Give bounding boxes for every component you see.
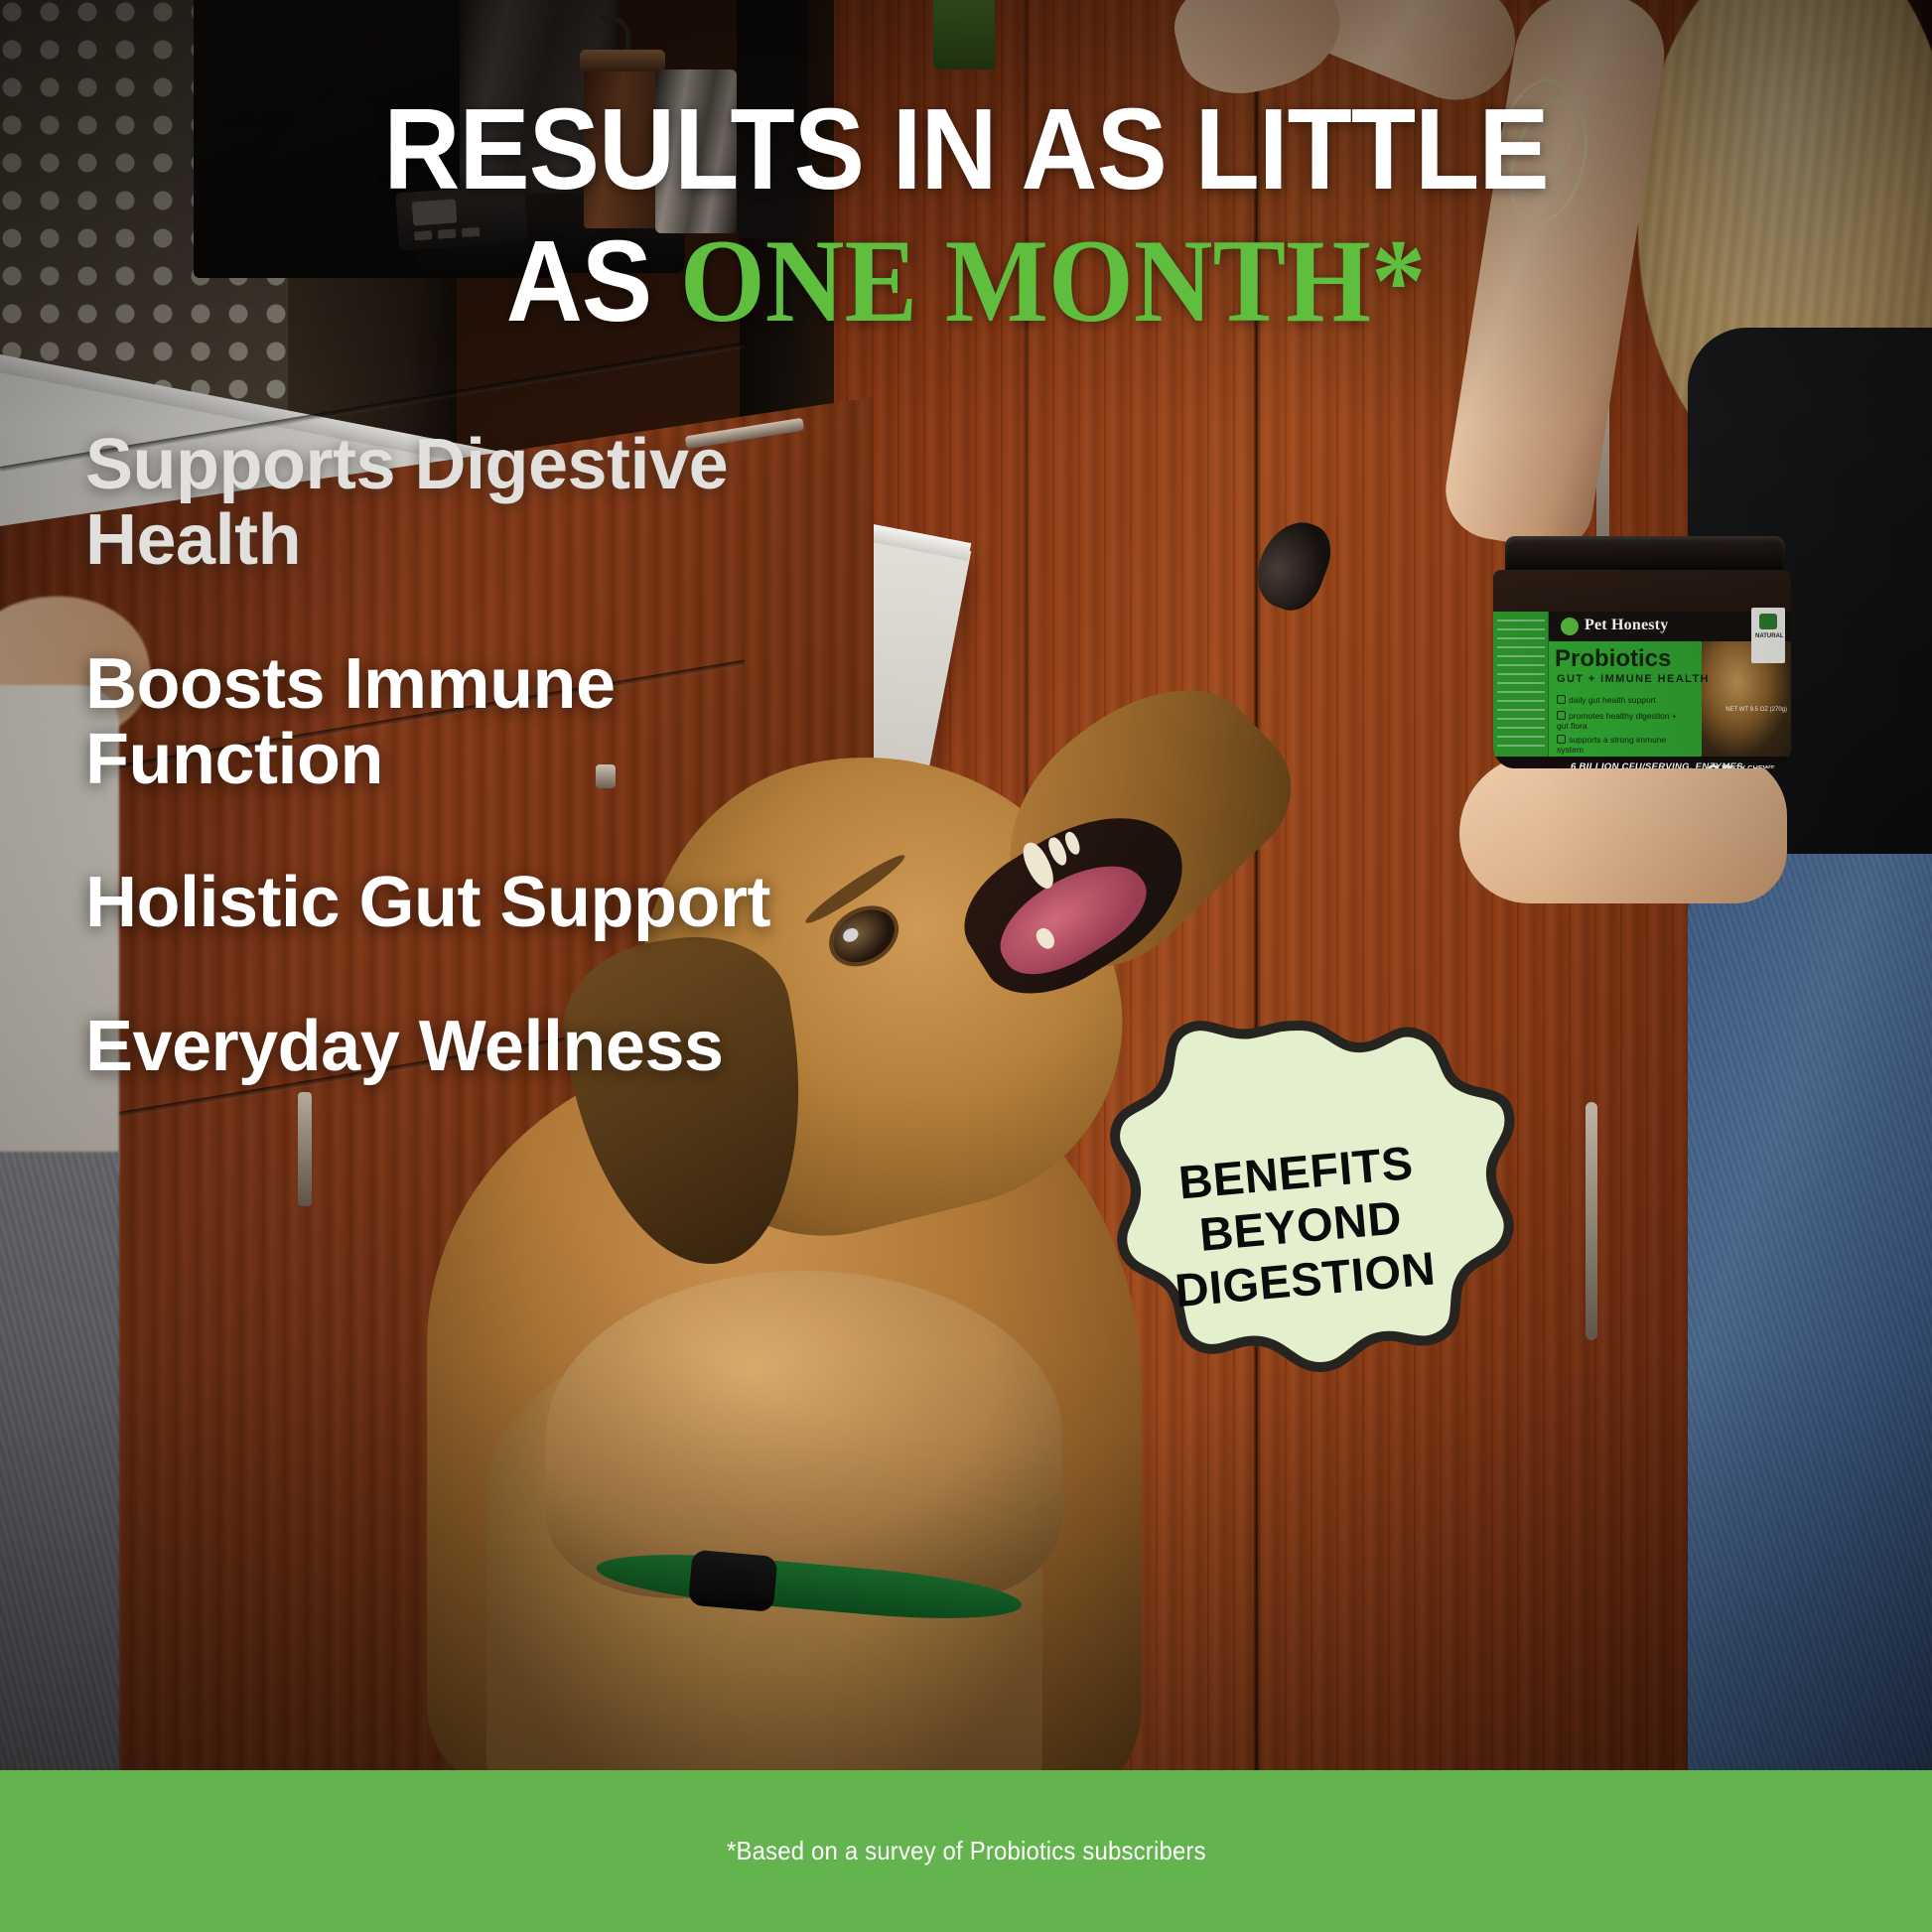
- seal-label: NATURAL: [1755, 633, 1784, 639]
- jar-body: Pet Honesty Probiotics GUT + IMMUNE HEAL…: [1493, 570, 1791, 768]
- net-weight-text: NET WT 9.5 OZ (270g): [1725, 707, 1787, 715]
- coffee-maker-display: [412, 199, 458, 225]
- coffee-maker-button: [438, 228, 457, 238]
- brand-name: Pet Honesty: [1585, 617, 1668, 634]
- product-bullet: daily gut health support: [1557, 695, 1656, 706]
- label-claim-bar: 6 BILLION CFU/SERVING, ENZYMES, PREBIOTI…: [1493, 757, 1791, 768]
- knife-block: [737, 0, 808, 238]
- product-bullet-text: daily gut health support: [1569, 695, 1656, 705]
- product-bullet-text: promotes healthy digestion + gut flora: [1557, 711, 1677, 731]
- canister-lid: [580, 50, 665, 71]
- cabinet-seam: [1253, 0, 1260, 1777]
- background-person-pants: [0, 1152, 119, 1777]
- seal-leaf-icon: [1759, 614, 1777, 629]
- pet-honesty-logo-icon: [1561, 618, 1579, 635]
- label-ingredient-lines: [1497, 620, 1545, 749]
- product-bullet: promotes healthy digestion + gut flora: [1557, 711, 1688, 732]
- check-icon: [1557, 735, 1566, 744]
- woman-hand-holding-jar: [1459, 755, 1787, 903]
- ad-creative-canvas: Pet Honesty Probiotics GUT + IMMUNE HEAL…: [0, 0, 1932, 1932]
- coffee-maker-control-panel: [395, 185, 528, 251]
- benefits-beyond-digestion-badge: BENEFITS BEYOND DIGESTION: [1082, 1018, 1519, 1435]
- benefit-list: Supports Digestive Health Boosts Immune …: [85, 427, 840, 1152]
- product-name: Probiotics: [1555, 645, 1671, 673]
- benefit-item-everyday-wellness: Everyday Wellness: [85, 1009, 840, 1084]
- product-count-unit: TASTY CHEWS: [1722, 764, 1775, 768]
- badge-text-block: BENEFITS BEYOND DIGESTION: [1065, 1000, 1537, 1453]
- coffee-maker-button: [414, 230, 433, 240]
- product-subtitle: GUT + IMMUNE HEALTH: [1557, 673, 1710, 685]
- woman-jeans: [1688, 854, 1932, 1777]
- natural-seal-badge: NATURAL: [1751, 608, 1785, 663]
- product-jar: Pet Honesty Probiotics GUT + IMMUNE HEAL…: [1487, 536, 1803, 769]
- cabinet-handle: [1586, 1102, 1597, 1340]
- footnote-disclaimer: *Based on a survey of Probiotics subscri…: [727, 1836, 1206, 1866]
- product-bullet-text: supports a strong immune system: [1557, 735, 1666, 755]
- check-icon: [1557, 711, 1566, 720]
- dog-tongue: [984, 843, 1161, 995]
- product-bullet: supports a strong immune system: [1557, 735, 1688, 756]
- moka-pot: [655, 69, 737, 233]
- footer-band: *Based on a survey of Probiotics subscri…: [0, 1770, 1932, 1932]
- coffee-maker-button: [462, 227, 481, 237]
- benefit-item-gut-support: Holistic Gut Support: [85, 865, 840, 940]
- check-icon: [1557, 695, 1566, 704]
- benefit-item-digestive-health: Supports Digestive Health: [85, 427, 840, 579]
- dog-neck-fur: [546, 1271, 1062, 1598]
- green-bottle: [933, 0, 995, 69]
- benefit-item-immune-function: Boosts Immune Function: [85, 646, 840, 798]
- jar-label: Pet Honesty Probiotics GUT + IMMUNE HEAL…: [1493, 612, 1791, 757]
- dog-collar-buckle: [688, 1550, 778, 1612]
- label-ingredients-panel: [1493, 612, 1549, 757]
- kitchen-canister: [584, 60, 661, 228]
